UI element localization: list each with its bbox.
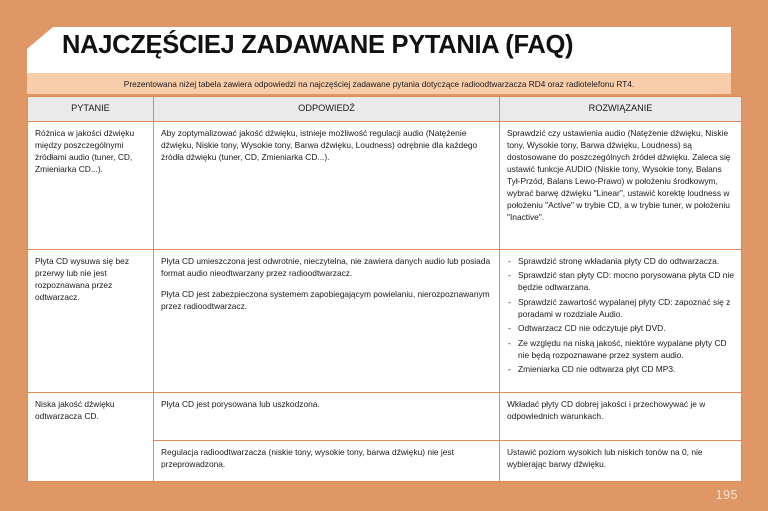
column-header-solution: ROZWIĄZANIE bbox=[500, 97, 742, 122]
cell-question: Płyta CD wysuwa się bez przerwy lub nie … bbox=[28, 250, 154, 393]
title-banner: NAJCZĘŚCIEJ ZADAWANE PYTANIA (FAQ) bbox=[27, 27, 731, 73]
question-text: Różnica w jakości dźwięku między poszcze… bbox=[35, 128, 146, 176]
cell-solution: Sprawdzić stronę wkładania płyty CD do o… bbox=[500, 250, 742, 393]
faq-table-container: PYTANIE ODPOWIEDŹ ROZWIĄZANIE Różnica w … bbox=[27, 96, 741, 486]
question-text: Niska jakość dźwięku odtwarzacza CD. bbox=[35, 399, 146, 423]
list-item: Odtwarzacz CD nie odczytuje płyt DVD. bbox=[507, 323, 734, 335]
answer-paragraph: Płyta CD umieszczona jest odwrotnie, nie… bbox=[161, 256, 492, 280]
cell-answer: Płyta CD umieszczona jest odwrotnie, nie… bbox=[154, 250, 500, 393]
solution-paragraph: Wkładać płyty CD dobrej jakości i przech… bbox=[507, 399, 734, 423]
answer-paragraph: Regulacja radioodtwarzacza (niskie tony,… bbox=[161, 447, 492, 471]
column-header-question: PYTANIE bbox=[28, 97, 154, 122]
subtitle-text: Prezentowana niżej tabela zawiera odpowi… bbox=[124, 79, 634, 89]
answer-paragraph: Aby zoptymalizować jakość dźwięku, istni… bbox=[161, 128, 492, 164]
cell-answer: Płyta CD jest porysowana lub uszkodzona. bbox=[154, 393, 500, 441]
column-header-answer: ODPOWIEDŹ bbox=[154, 97, 500, 122]
cell-question: Niska jakość dźwięku odtwarzacza CD. bbox=[28, 393, 154, 482]
list-item: Sprawdzić stronę wkładania płyty CD do o… bbox=[507, 256, 734, 268]
cell-solution: Sprawdzić czy ustawienia audio (Natężeni… bbox=[500, 122, 742, 250]
solution-paragraph: Sprawdzić czy ustawienia audio (Natężeni… bbox=[507, 128, 734, 223]
subtitle-band: Prezentowana niżej tabela zawiera odpowi… bbox=[27, 73, 731, 94]
table-row: Niska jakość dźwięku odtwarzacza CD. Pły… bbox=[28, 393, 742, 441]
solution-paragraph: Ustawić poziom wysokich lub niskich tonó… bbox=[507, 447, 734, 471]
cell-solution: Ustawić poziom wysokich lub niskich tonó… bbox=[500, 441, 742, 482]
answer-paragraph: Płyta CD jest zabezpieczona systemem zap… bbox=[161, 289, 492, 313]
list-item: Sprawdzić zawartość wypalanej płyty CD: … bbox=[507, 297, 734, 321]
table-row: Różnica w jakości dźwięku między poszcze… bbox=[28, 122, 742, 250]
page-number: 195 bbox=[716, 488, 738, 502]
solution-list: Sprawdzić stronę wkładania płyty CD do o… bbox=[507, 256, 734, 376]
table-header: PYTANIE ODPOWIEDŹ ROZWIĄZANIE bbox=[28, 97, 742, 122]
table-body: Różnica w jakości dźwięku między poszcze… bbox=[28, 122, 742, 482]
faq-table: PYTANIE ODPOWIEDŹ ROZWIĄZANIE Różnica w … bbox=[27, 96, 742, 482]
cell-question: Różnica w jakości dźwięku między poszcze… bbox=[28, 122, 154, 250]
cell-answer: Aby zoptymalizować jakość dźwięku, istni… bbox=[154, 122, 500, 250]
list-item: Sprawdzić stan płyty CD: mocno porysowan… bbox=[507, 270, 734, 294]
cell-answer: Regulacja radioodtwarzacza (niskie tony,… bbox=[154, 441, 500, 482]
table-header-row: PYTANIE ODPOWIEDŹ ROZWIĄZANIE bbox=[28, 97, 742, 122]
table-row: Płyta CD wysuwa się bez przerwy lub nie … bbox=[28, 250, 742, 393]
cell-solution: Wkładać płyty CD dobrej jakości i przech… bbox=[500, 393, 742, 441]
manual-page: NAJCZĘŚCIEJ ZADAWANE PYTANIA (FAQ) Preze… bbox=[0, 0, 768, 511]
list-item: Zmieniarka CD nie odtwarza płyt CD MP3. bbox=[507, 364, 734, 376]
list-item: Ze względu na niską jakość, niektóre wyp… bbox=[507, 338, 734, 362]
answer-paragraph: Płyta CD jest porysowana lub uszkodzona. bbox=[161, 399, 492, 411]
question-text: Płyta CD wysuwa się bez przerwy lub nie … bbox=[35, 256, 146, 304]
page-title: NAJCZĘŚCIEJ ZADAWANE PYTANIA (FAQ) bbox=[62, 31, 573, 60]
